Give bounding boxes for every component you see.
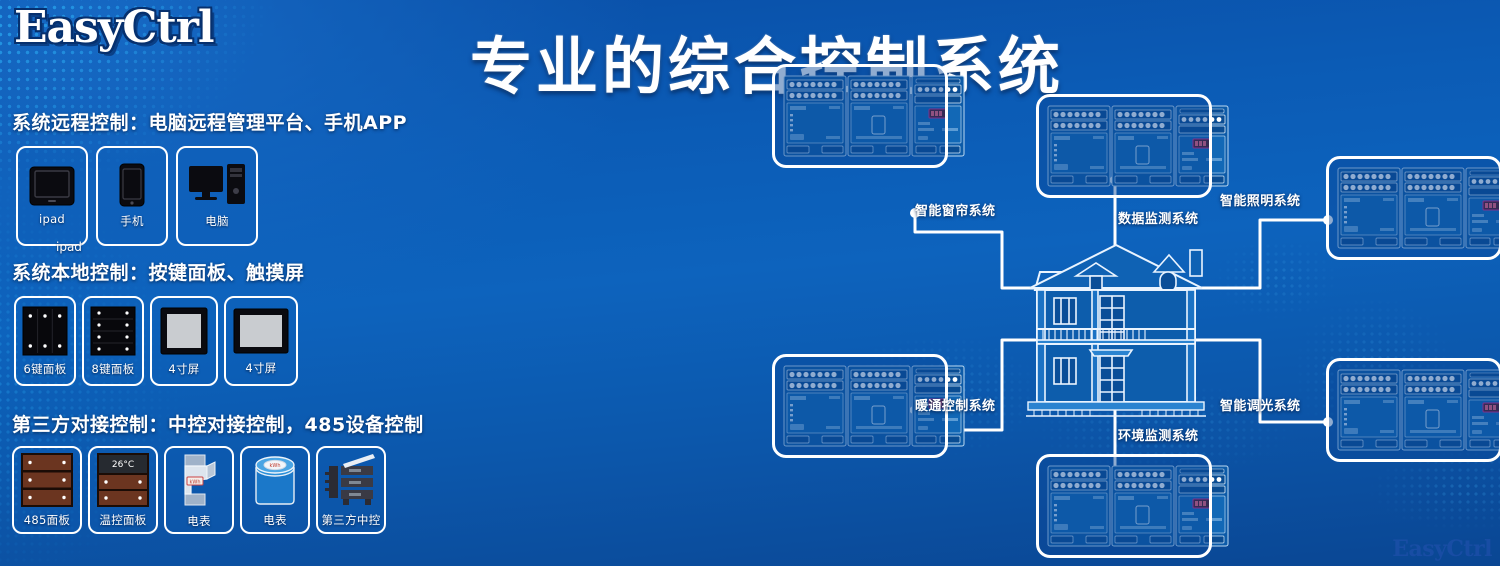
energy-meter-icon: kWh — [175, 451, 223, 509]
device-card-8key-panel[interactable]: 8键面板 — [82, 296, 144, 386]
third-party-central-control-icon — [323, 452, 379, 508]
node-label-environment: 环境监测系统 — [1118, 425, 1198, 444]
device-card-caption: 第三方中控 — [322, 512, 381, 528]
node-label-lighting: 智能照明系统 — [1220, 190, 1300, 209]
device-card-caption: 电脑 — [205, 213, 229, 229]
round-meter-icon: kWh — [248, 452, 302, 508]
device-card-caption: 手机 — [120, 213, 144, 229]
brand-logo: EasyCtrl — [14, 2, 214, 53]
node-label-data-monitor: 数据监测系统 — [1118, 208, 1198, 227]
local-control-card-row: 6键面板 8键面板 4寸屏 — [14, 296, 298, 386]
device-card-caption: 4寸屏 — [168, 361, 199, 377]
device-card-ipad[interactable]: ipad — [16, 146, 88, 246]
device-card-round-meter[interactable]: kWh 电表 — [240, 446, 310, 534]
device-card-caption: 485面板 — [24, 512, 70, 528]
system-topology-diagram: 智能窗帘系统 数据监测系统 智能照明系统 暖通控制系统 环境监测系统 智能调光系… — [740, 40, 1500, 566]
eight-key-panel-icon — [90, 306, 136, 356]
tablet-icon — [29, 166, 75, 206]
device-card-caption: 电表 — [187, 513, 211, 529]
ipad-sublabel: ipad — [56, 240, 82, 254]
svg-text:26°C: 26°C — [112, 460, 134, 470]
third-party-card-row: 485面板 26°C 温控面板 kWh 电表 — [12, 446, 386, 534]
module-frame-data-monitor[interactable] — [1036, 94, 1212, 198]
device-card-caption: 4寸屏 — [245, 360, 276, 376]
device-card-phone[interactable]: 手机 — [96, 146, 168, 246]
desktop-computer-icon — [188, 163, 246, 207]
module-frame-dimmer[interactable] — [1326, 358, 1500, 462]
section-heading-remote-control: 系统远程控制：电脑远程管理平台、手机APP — [12, 108, 407, 135]
node-label-curtain: 智能窗帘系统 — [915, 200, 995, 219]
device-card-6key-panel[interactable]: 6键面板 — [14, 296, 76, 386]
house-illustration — [1026, 245, 1206, 416]
device-card-caption: 8键面板 — [91, 361, 134, 377]
module-frame-lighting[interactable] — [1326, 156, 1500, 260]
section-heading-local-control: 系统本地控制：按键面板、触摸屏 — [12, 258, 305, 285]
device-card-third-party-control[interactable]: 第三方中控 — [316, 446, 386, 534]
watermark-logo: EasyCtrl — [1392, 536, 1492, 562]
rs485-panel-icon — [20, 452, 74, 508]
device-card-485-panel[interactable]: 485面板 — [12, 446, 82, 534]
poster-canvas: EasyCtrl 专业的综合控制系统 系统远程控制：电脑远程管理平台、手机APP… — [0, 0, 1500, 566]
four-inch-screen-wide-icon — [232, 307, 290, 355]
four-inch-screen-icon — [159, 306, 209, 356]
module-frame-curtain[interactable] — [772, 64, 948, 168]
section-heading-third-party: 第三方对接控制：中控对接控制，485设备控制 — [12, 410, 424, 437]
svg-text:kWh: kWh — [269, 463, 280, 469]
device-card-caption: 电表 — [263, 512, 287, 528]
node-label-dimmer: 智能调光系统 — [1220, 395, 1300, 414]
device-card-caption: ipad — [39, 212, 65, 226]
remote-control-card-row: ipad 手机 电脑 — [16, 146, 258, 246]
module-frame-environment[interactable] — [1036, 454, 1212, 558]
device-card-4inch-screen-b[interactable]: 4寸屏 — [224, 296, 298, 386]
six-key-panel-icon — [22, 306, 68, 356]
device-card-computer[interactable]: 电脑 — [176, 146, 258, 246]
svg-text:kWh: kWh — [189, 480, 200, 486]
node-label-hvac: 暖通控制系统 — [915, 395, 995, 414]
smartphone-icon — [119, 163, 145, 207]
device-card-caption: 温控面板 — [99, 512, 146, 528]
device-card-energy-meter[interactable]: kWh 电表 — [164, 446, 234, 534]
device-card-thermostat[interactable]: 26°C 温控面板 — [88, 446, 158, 534]
thermostat-panel-icon: 26°C — [96, 452, 150, 508]
device-card-caption: 6键面板 — [23, 361, 66, 377]
device-card-4inch-screen-a[interactable]: 4寸屏 — [150, 296, 218, 386]
